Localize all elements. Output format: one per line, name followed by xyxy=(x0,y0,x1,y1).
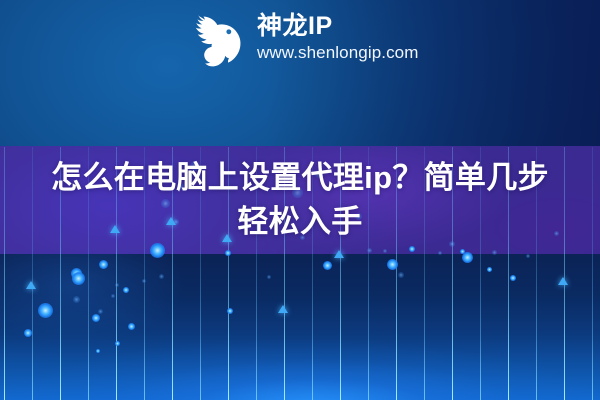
glow-dot xyxy=(492,250,497,255)
glow-dot xyxy=(99,260,108,269)
glow-dot xyxy=(323,261,332,270)
glow-dot xyxy=(150,243,165,258)
glow-dot xyxy=(111,294,115,298)
glow-dot xyxy=(227,308,233,314)
glow-dot xyxy=(225,250,231,256)
glow-dot xyxy=(92,314,100,322)
glow-dot xyxy=(98,309,103,314)
arrow-up-icon xyxy=(278,305,288,313)
promo-banner: 神龙IP www.shenlongip.com 怎么在电脑上设置代理ip？简单几… xyxy=(0,0,600,400)
glow-dot xyxy=(487,267,492,272)
glow-dot xyxy=(267,275,271,279)
headline: 怎么在电脑上设置代理ip？简单几步 轻松入手 xyxy=(0,156,600,244)
glow-dot xyxy=(115,283,119,287)
glow-dot xyxy=(383,249,387,253)
glow-dot xyxy=(128,323,135,330)
glow-dot xyxy=(367,248,372,253)
glow-dot xyxy=(387,259,398,270)
glow-dot xyxy=(409,246,415,252)
glow-dot xyxy=(142,279,146,283)
glow-dot xyxy=(24,329,32,337)
brand-name: 神龙IP xyxy=(257,14,419,39)
brand-website: www.shenlongip.com xyxy=(257,44,419,61)
brand-logo: 神龙IP www.shenlongip.com xyxy=(186,2,426,72)
glow-dot xyxy=(462,252,473,263)
glow-dot xyxy=(72,272,85,285)
arrow-up-icon xyxy=(334,250,344,258)
glow-dot xyxy=(526,254,530,258)
glow-dot xyxy=(73,296,80,303)
glow-dot xyxy=(123,287,129,293)
glow-dot xyxy=(510,275,516,281)
dragon-head-icon xyxy=(186,6,248,68)
glow-dot xyxy=(96,349,100,353)
brand-text-block: 神龙IP www.shenlongip.com xyxy=(257,14,419,61)
arrow-up-icon xyxy=(558,277,568,285)
glow-dot xyxy=(115,341,120,346)
glow-dot xyxy=(38,303,53,318)
glow-dot xyxy=(159,274,164,279)
arrow-up-icon xyxy=(26,281,36,289)
headline-line-1: 怎么在电脑上设置代理ip？简单几步 xyxy=(14,156,586,200)
glow-dot xyxy=(398,272,404,278)
headline-line-2: 轻松入手 xyxy=(14,200,586,244)
glow-dot xyxy=(438,251,442,255)
